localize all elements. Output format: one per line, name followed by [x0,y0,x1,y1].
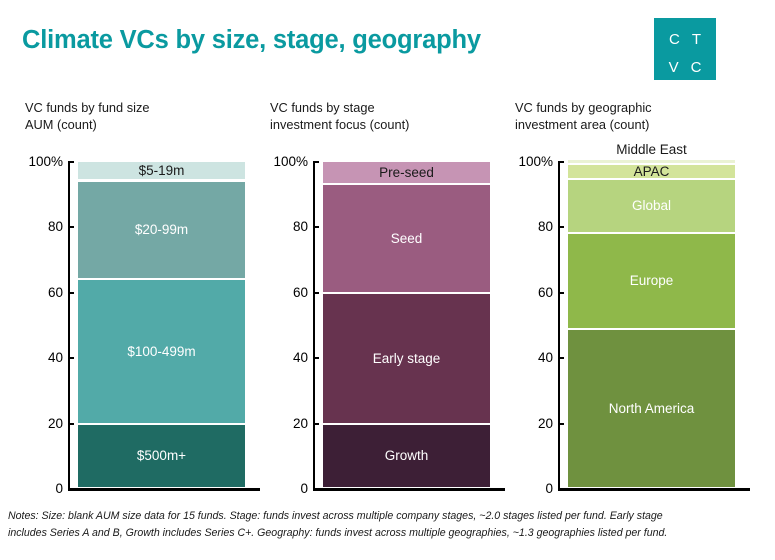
chart-panel-geography: VC funds by geographic investment area (… [504,100,754,500]
stacked-bar: North AmericaEuropeGlobalAPAC [568,162,735,489]
notes-footnote: Notes: Size: blank AUM size data for 15 … [8,508,770,541]
bar-segment[interactable]: Early stage [323,294,490,423]
y-axis-tick-label: 60 [48,286,63,300]
y-axis-tick [313,161,319,163]
y-axis-tick-label: 20 [293,417,308,431]
stacked-bar: $500m+$100-499m$20-99m$5-19m [78,162,245,489]
bar-segment-label: APAC [634,165,670,178]
stacked-bar-chart: 100%806040200North AmericaEuropeGlobalAP… [504,100,754,500]
y-axis-tick-label: 100% [273,155,308,169]
y-axis-line [313,162,315,490]
y-axis-tick-label: 100% [28,155,63,169]
y-axis-tick-label: 20 [48,417,63,431]
page-title: Climate VCs by size, stage, geography [22,26,481,55]
bar-segment[interactable]: $100-499m [78,280,245,423]
bar-segment-label: Pre-seed [379,166,434,180]
y-axis-tick-label: 60 [538,286,553,300]
bar-segment-label: $500m+ [137,449,186,463]
y-axis-tick [558,423,564,425]
stacked-bar-chart: 100%806040200GrowthEarly stageSeedPre-se… [259,100,509,500]
notes-line-1: Notes: Size: blank AUM size data for 15 … [8,508,770,525]
y-axis-tick [313,357,319,359]
y-axis-tick [68,161,74,163]
y-axis-tick [313,226,319,228]
y-axis-tick-label: 100% [518,155,553,169]
logo-letter-c2: C [691,60,702,75]
logo-letter-t: T [692,32,701,47]
bar-segment-label: Seed [391,232,423,246]
bar-segment-outside-label: Middle East [568,143,735,157]
bar-segment[interactable]: Pre-seed [323,162,490,183]
bar-segment[interactable] [568,160,735,163]
ctvc-logo: C T V C [654,18,716,80]
stacked-bar: GrowthEarly stageSeedPre-seed [323,162,490,489]
bar-segment-label: Europe [630,274,674,288]
y-axis-tick [68,357,74,359]
chart-panel-stage: VC funds by stage investment focus (coun… [259,100,509,500]
y-axis-tick-label: 0 [300,482,308,496]
notes-line-2: includes Series A and B, Growth includes… [8,525,770,542]
y-axis-tick [68,292,74,294]
y-axis-tick [68,488,74,490]
bar-segment[interactable]: Europe [568,234,735,328]
y-axis-tick [68,423,74,425]
logo-letter-v: V [669,60,679,75]
y-axis-tick-label: 40 [538,351,553,365]
y-axis-tick [558,357,564,359]
bar-segment[interactable]: Global [568,180,735,232]
y-axis-tick [313,423,319,425]
y-axis-tick-label: 0 [545,482,553,496]
bar-segment[interactable]: $20-99m [78,182,245,278]
bar-segment[interactable]: Seed [323,185,490,292]
y-axis-tick-label: 80 [48,220,63,234]
y-axis-tick [68,226,74,228]
bar-segment[interactable]: North America [568,330,735,486]
y-axis-line [558,162,560,490]
page-header: Climate VCs by size, stage, geography C … [0,0,775,92]
bar-segment-label: $100-499m [127,345,195,359]
y-axis-line [68,162,70,490]
bar-segment-label: $20-99m [135,223,188,237]
bar-segment-label: Growth [385,449,429,463]
y-axis-tick-label: 40 [48,351,63,365]
chart-panel-fund-size: VC funds by fund size AUM (count) 100%80… [14,100,264,500]
y-axis-tick-label: 20 [538,417,553,431]
y-axis-tick [558,292,564,294]
bar-segment[interactable]: APAC [568,165,735,178]
bar-segment-label: North America [609,402,695,416]
y-axis-tick-label: 80 [538,220,553,234]
bar-segment[interactable]: $500m+ [78,425,245,487]
y-axis-tick-label: 60 [293,286,308,300]
y-axis-tick-label: 80 [293,220,308,234]
y-axis-tick [313,292,319,294]
bar-segment[interactable]: $5-19m [78,162,245,179]
y-axis-tick [558,488,564,490]
bar-segment-label: Early stage [373,352,441,366]
logo-letter-c1: C [669,32,680,47]
y-axis-tick [313,488,319,490]
bar-segment-label: Global [632,199,671,213]
bar-segment[interactable]: Growth [323,425,490,487]
y-axis-tick [558,161,564,163]
y-axis-tick-label: 40 [293,351,308,365]
y-axis-tick-label: 0 [55,482,63,496]
y-axis-tick [558,226,564,228]
stacked-bar-chart: 100%806040200$500m+$100-499m$20-99m$5-19… [14,100,264,500]
bar-segment-label: $5-19m [139,164,185,178]
